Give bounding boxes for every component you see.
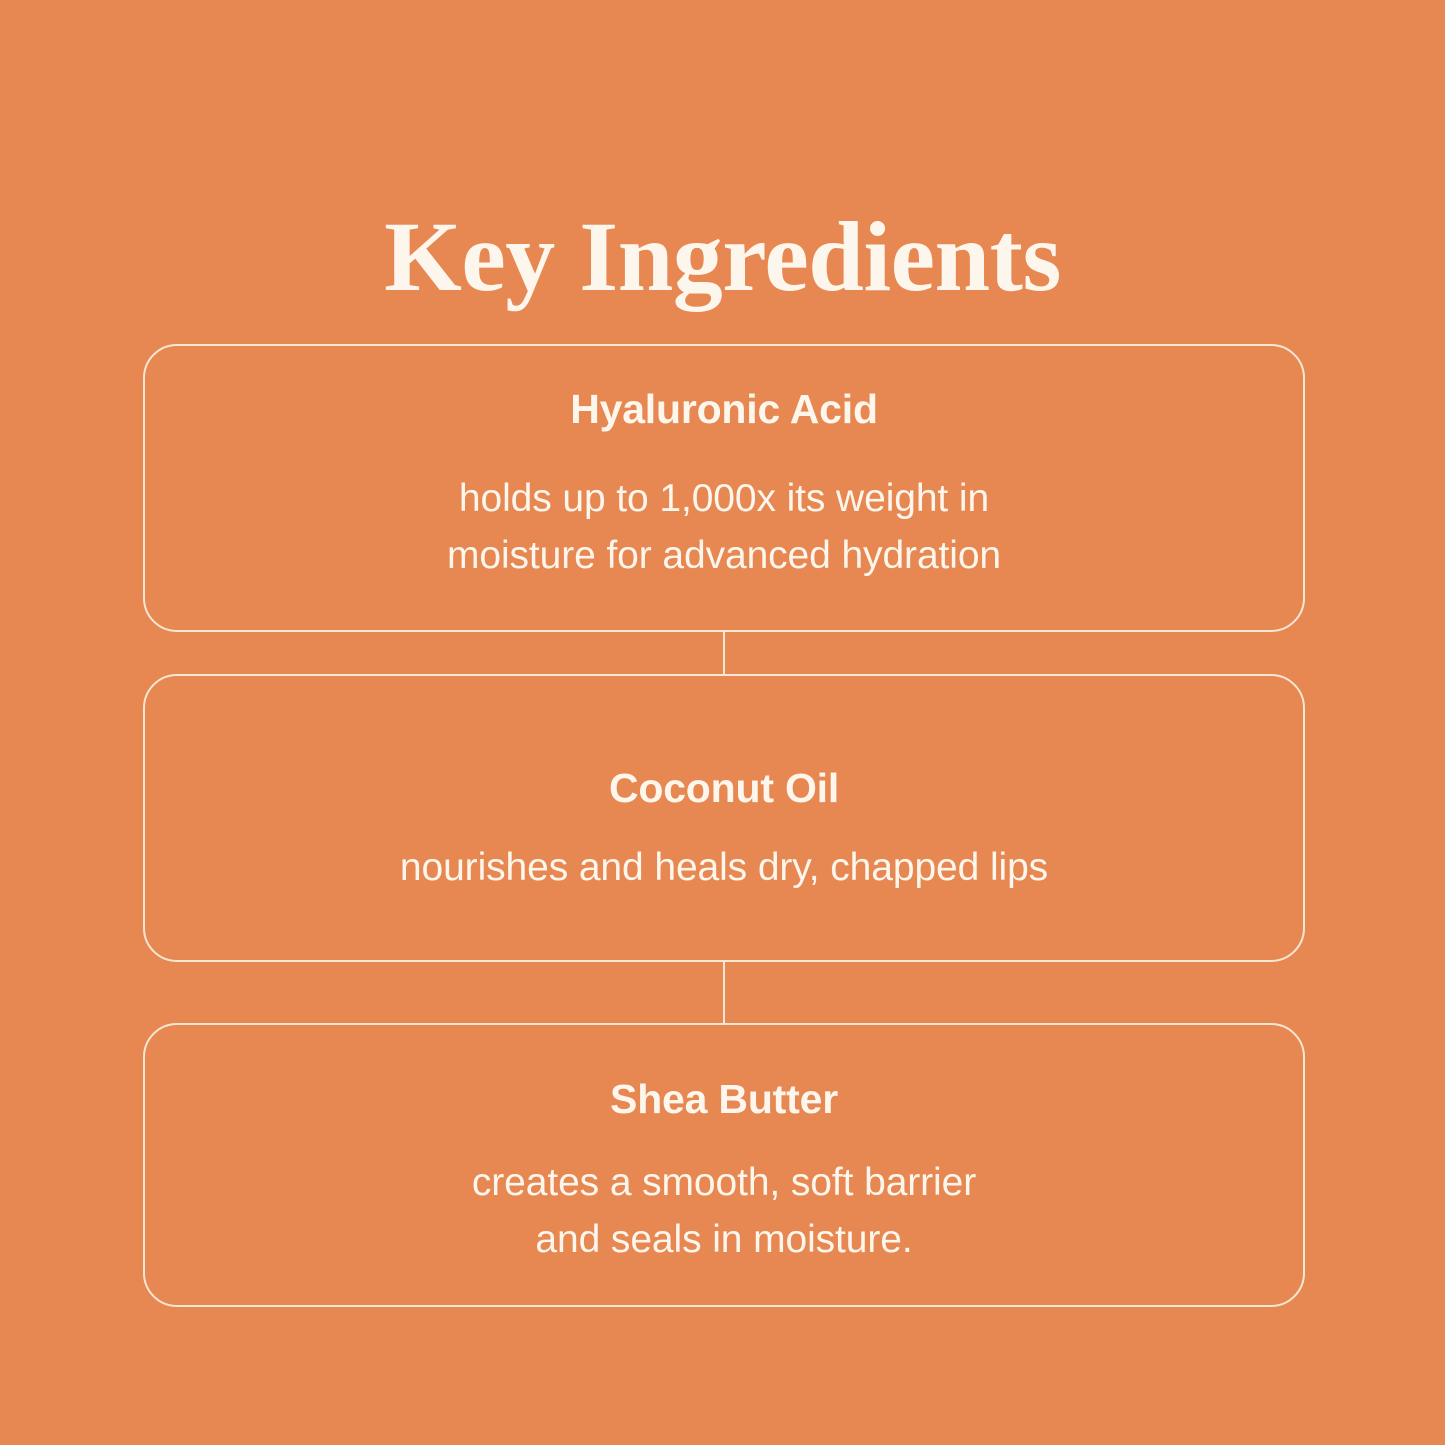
key-ingredients-infographic: Key Ingredients Hyaluronic Acid holds up… <box>0 0 1445 1445</box>
ingredient-name: Shea Butter <box>610 1074 838 1124</box>
ingredient-description-line-1: nourishes and heals dry, chapped lips <box>400 846 1048 889</box>
ingredient-card-stack: Hyaluronic Acid holds up to 1,000x its w… <box>143 344 1305 1307</box>
page-title: Key Ingredients <box>0 198 1445 316</box>
ingredient-description-line-1: creates a smooth, soft barrier <box>472 1161 976 1204</box>
ingredient-card-shea-butter: Shea Butter creates a smooth, soft barri… <box>143 1023 1305 1307</box>
ingredient-description-line-2: and seals in moisture. <box>535 1218 912 1261</box>
ingredient-description: nourishes and heals dry, chapped lips <box>400 839 1048 896</box>
ingredient-description-line-2: moisture for advanced hydration <box>447 534 1001 577</box>
ingredient-card-coconut-oil: Coconut Oil nourishes and heals dry, cha… <box>143 674 1305 962</box>
card-connector-line <box>723 632 725 674</box>
ingredient-description: holds up to 1,000x its weight in moistur… <box>447 470 1001 584</box>
ingredient-description: creates a smooth, soft barrier and seals… <box>472 1154 976 1268</box>
ingredient-card-hyaluronic-acid: Hyaluronic Acid holds up to 1,000x its w… <box>143 344 1305 632</box>
ingredient-name: Hyaluronic Acid <box>570 384 878 434</box>
ingredient-description-line-1: holds up to 1,000x its weight in <box>459 477 989 520</box>
card-connector-line <box>723 962 725 1023</box>
ingredient-name: Coconut Oil <box>609 763 839 813</box>
